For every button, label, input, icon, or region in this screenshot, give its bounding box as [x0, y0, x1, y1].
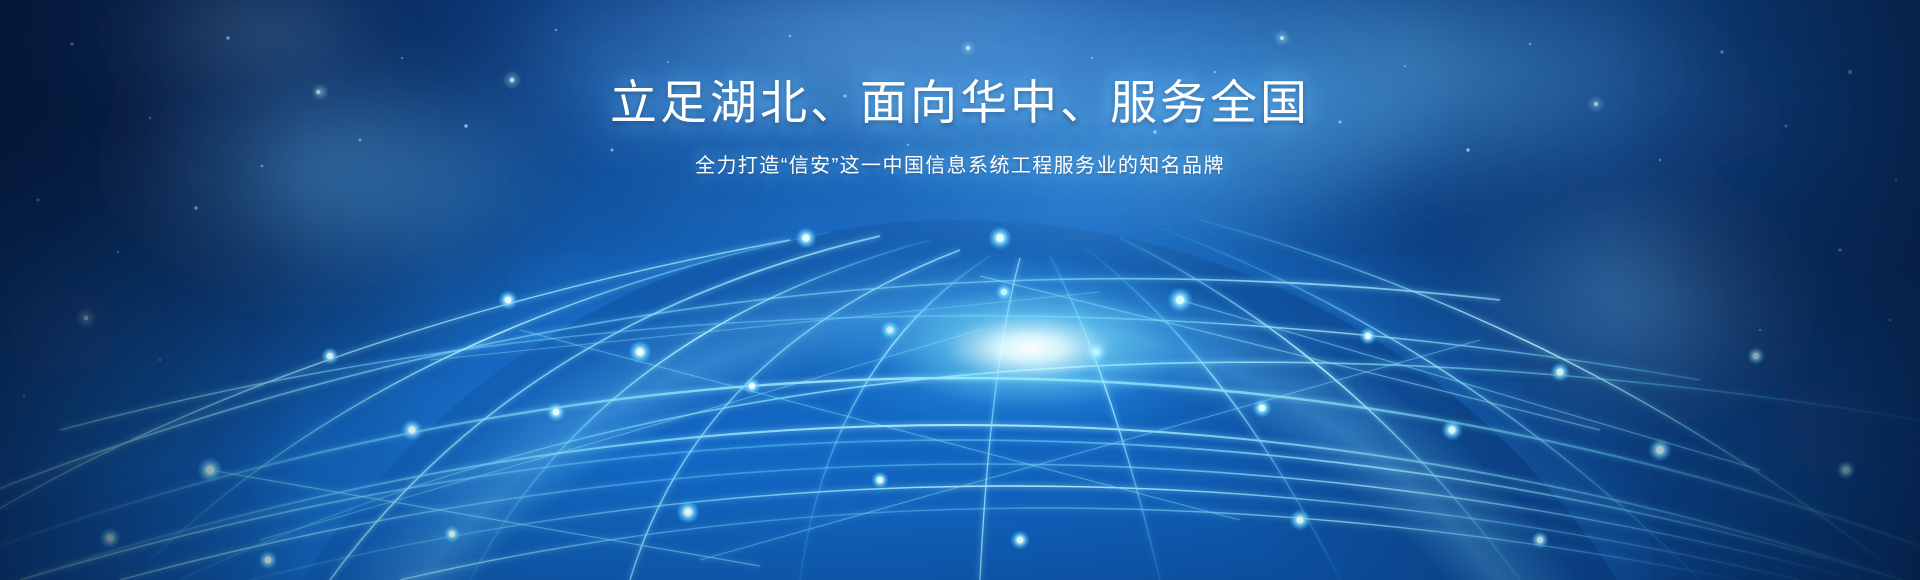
page-title: 立足湖北、面向华中、服务全国	[0, 74, 1920, 133]
page-subtitle: 全力打造“信安”这一中国信息系统工程服务业的知名品牌	[0, 149, 1920, 178]
hero-banner: 立足湖北、面向华中、服务全国 全力打造“信安”这一中国信息系统工程服务业的知名品…	[0, 0, 1920, 580]
banner-copy: 立足湖北、面向华中、服务全国 全力打造“信安”这一中国信息系统工程服务业的知名品…	[0, 74, 1920, 178]
